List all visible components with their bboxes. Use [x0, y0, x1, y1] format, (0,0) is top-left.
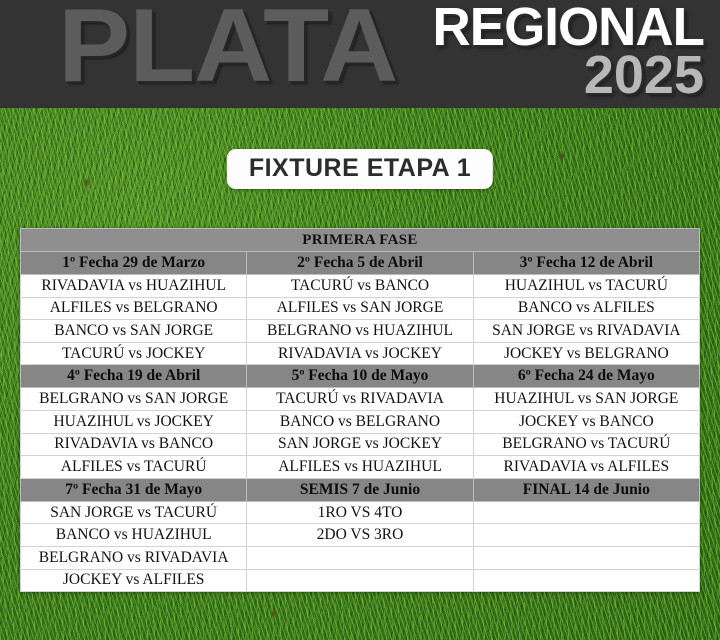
match-row: ALFILES vs BELGRANOALFILES vs SAN JORGEB…: [21, 297, 700, 320]
match-cell[interactable]: BELGRANO vs SAN JORGE: [21, 388, 247, 411]
header-band: PLATA REGIONAL 2025: [0, 0, 720, 108]
empty-cell: [473, 546, 699, 569]
match-cell[interactable]: RIVADAVIA vs JOCKEY: [247, 342, 473, 365]
match-cell[interactable]: RIVADAVIA vs ALFILES: [473, 456, 699, 479]
match-cell[interactable]: 1RO VS 4TO: [247, 501, 473, 524]
match-cell[interactable]: BELGRANO vs HUAZIHUL: [247, 320, 473, 343]
match-cell[interactable]: SAN JORGE vs JOCKEY: [247, 433, 473, 456]
empty-cell: [473, 524, 699, 547]
match-cell[interactable]: BELGRANO vs TACURÚ: [473, 433, 699, 456]
match-row: SAN JORGE vs TACURÚ1RO VS 4TO: [21, 501, 700, 524]
match-cell[interactable]: RIVADAVIA vs HUAZIHUL: [21, 275, 247, 298]
round-header-cell[interactable]: SEMIS 7 de Junio: [247, 478, 473, 501]
round-header-row: 7º Fecha 31 de MayoSEMIS 7 de JunioFINAL…: [21, 478, 700, 501]
empty-cell: [247, 569, 473, 592]
page-title-right-group: REGIONAL 2025: [427, 2, 704, 102]
empty-cell: [247, 546, 473, 569]
match-row: RIVADAVIA vs BANCOSAN JORGE vs JOCKEYBEL…: [21, 433, 700, 456]
round-header-cell[interactable]: 5º Fecha 10 de Mayo: [247, 365, 473, 388]
match-cell[interactable]: SAN JORGE vs TACURÚ: [21, 501, 247, 524]
match-cell[interactable]: HUAZIHUL vs JOCKEY: [21, 410, 247, 433]
round-header-cell[interactable]: 6º Fecha 24 de Mayo: [473, 365, 699, 388]
match-cell[interactable]: ALFILES vs HUAZIHUL: [247, 456, 473, 479]
match-cell[interactable]: ALFILES vs SAN JORGE: [247, 297, 473, 320]
match-row: BANCO vs HUAZIHUL2DO VS 3RO: [21, 524, 700, 547]
round-header-row: 1º Fecha 29 de Marzo2º Fecha 5 de Abril3…: [21, 252, 700, 275]
match-cell[interactable]: RIVADAVIA vs BANCO: [21, 433, 247, 456]
fixture-table: PRIMERA FASE1º Fecha 29 de Marzo2º Fecha…: [20, 228, 700, 592]
match-cell[interactable]: BANCO vs HUAZIHUL: [21, 524, 247, 547]
page-title-year: 2025: [427, 50, 704, 101]
match-cell[interactable]: HUAZIHUL vs TACURÚ: [473, 275, 699, 298]
match-cell[interactable]: JOCKEY vs BANCO: [473, 410, 699, 433]
match-row: HUAZIHUL vs JOCKEYBANCO vs BELGRANOJOCKE…: [21, 410, 700, 433]
match-cell[interactable]: TACURÚ vs JOCKEY: [21, 342, 247, 365]
match-cell[interactable]: JOCKEY vs ALFILES: [21, 569, 247, 592]
round-header-cell[interactable]: FINAL 14 de Junio: [473, 478, 699, 501]
match-row: BELGRANO vs SAN JORGETACURÚ vs RIVADAVIA…: [21, 388, 700, 411]
match-row: BANCO vs SAN JORGEBELGRANO vs HUAZIHULSA…: [21, 320, 700, 343]
match-cell[interactable]: BANCO vs ALFILES: [473, 297, 699, 320]
page-title-regional: REGIONAL: [433, 2, 704, 53]
round-header-cell[interactable]: 1º Fecha 29 de Marzo: [21, 252, 247, 275]
fixture-table-body: PRIMERA FASE1º Fecha 29 de Marzo2º Fecha…: [21, 229, 700, 592]
match-cell[interactable]: JOCKEY vs BELGRANO: [473, 342, 699, 365]
empty-cell: [473, 501, 699, 524]
page-title-plata: PLATA: [58, 0, 397, 98]
phase-header-row: PRIMERA FASE: [21, 229, 700, 252]
match-row: TACURÚ vs JOCKEYRIVADAVIA vs JOCKEYJOCKE…: [21, 342, 700, 365]
match-row: JOCKEY vs ALFILES: [21, 569, 700, 592]
match-row: RIVADAVIA vs HUAZIHULTACURÚ vs BANCOHUAZ…: [21, 275, 700, 298]
match-cell[interactable]: BANCO vs SAN JORGE: [21, 320, 247, 343]
match-row: ALFILES vs TACURÚALFILES vs HUAZIHULRIVA…: [21, 456, 700, 479]
round-header-row: 4º Fecha 19 de Abril5º Fecha 10 de Mayo6…: [21, 365, 700, 388]
fixture-stage-label: FIXTURE ETAPA 1: [249, 155, 471, 181]
match-row: BELGRANO vs RIVADAVIA: [21, 546, 700, 569]
match-cell[interactable]: SAN JORGE vs RIVADAVIA: [473, 320, 699, 343]
match-cell[interactable]: TACURÚ vs BANCO: [247, 275, 473, 298]
match-cell[interactable]: ALFILES vs TACURÚ: [21, 456, 247, 479]
match-cell[interactable]: 2DO VS 3RO: [247, 524, 473, 547]
fixture-stage-badge: FIXTURE ETAPA 1: [227, 149, 493, 189]
round-header-cell[interactable]: 4º Fecha 19 de Abril: [21, 365, 247, 388]
round-header-cell[interactable]: 2º Fecha 5 de Abril: [247, 252, 473, 275]
match-cell[interactable]: HUAZIHUL vs SAN JORGE: [473, 388, 699, 411]
match-cell[interactable]: BELGRANO vs RIVADAVIA: [21, 546, 247, 569]
empty-cell: [473, 569, 699, 592]
match-cell[interactable]: TACURÚ vs RIVADAVIA: [247, 388, 473, 411]
match-cell[interactable]: ALFILES vs BELGRANO: [21, 297, 247, 320]
round-header-cell[interactable]: 3º Fecha 12 de Abril: [473, 252, 699, 275]
phase-label: PRIMERA FASE: [21, 229, 700, 252]
match-cell[interactable]: BANCO vs BELGRANO: [247, 410, 473, 433]
round-header-cell[interactable]: 7º Fecha 31 de Mayo: [21, 478, 247, 501]
